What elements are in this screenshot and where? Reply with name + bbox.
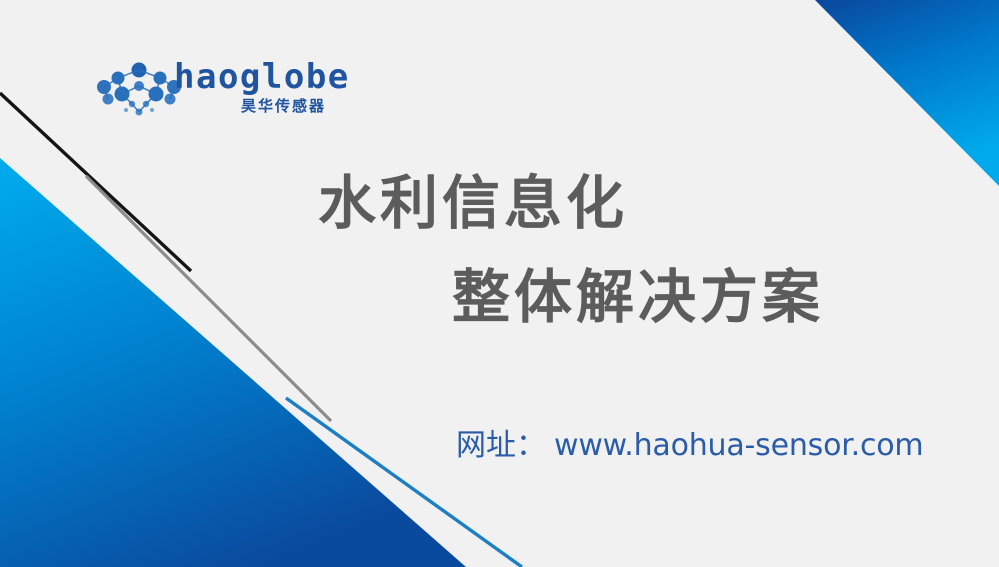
- company-logo: haoglobe 昊华传感器: [96, 58, 326, 124]
- website-url[interactable]: www.haohua-sensor.com: [554, 428, 923, 463]
- title-line-2: 整体解决方案: [452, 268, 824, 326]
- website-line: 网址： www.haohua-sensor.com: [456, 420, 923, 464]
- logo-subtitle: 昊华传感器: [196, 99, 326, 114]
- website-label: 网址：: [456, 420, 546, 464]
- molecule-network-icon: [96, 62, 182, 118]
- slide-title: 水利信息化 整体解决方案: [0, 168, 999, 343]
- title-slide: haoglobe 昊华传感器 水利信息化 整体解决方案 网址： www.haoh…: [0, 0, 999, 567]
- title-line-1: 水利信息化: [318, 174, 628, 232]
- logo-wordmark: haoglobe: [174, 60, 350, 94]
